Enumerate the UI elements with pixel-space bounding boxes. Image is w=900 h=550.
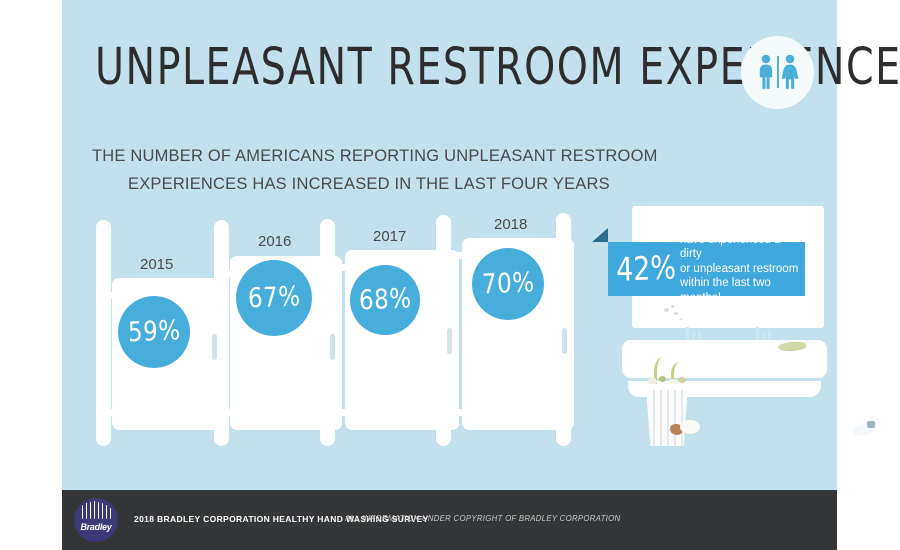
door-latch-icon — [447, 328, 452, 354]
infographic-root: UNPLEASANT RESTROOM EXPERIENCES THE NUMB… — [0, 0, 900, 550]
floor-debris — [680, 420, 700, 434]
stall-value-circle: 70% — [472, 248, 544, 320]
stall-year-label: 2018 — [494, 216, 527, 233]
waste-item — [659, 376, 666, 382]
trash-rib — [653, 390, 655, 446]
door-hinge-icon — [219, 409, 232, 416]
stall-value-label: 59% — [127, 316, 181, 349]
door-latch-icon — [330, 334, 335, 360]
splatter-mark — [680, 318, 682, 320]
infographic-canvas: UNPLEASANT RESTROOM EXPERIENCES THE NUMB… — [62, 0, 837, 490]
logo-spray-line — [86, 503, 87, 519]
stall-value-circle: 59% — [118, 296, 190, 368]
faucet-icon — [756, 327, 759, 340]
bradley-logo: Bradley — [74, 498, 118, 542]
door-hinge-icon — [451, 409, 464, 416]
logo-spray-line — [82, 505, 83, 519]
footer-bar: Bradley 2018 BRADLEY CORPORATION HEALTHY… — [62, 490, 837, 550]
stall-year-label: 2015 — [140, 256, 173, 273]
door-hinge-icon — [101, 409, 114, 416]
door-hinge-icon — [334, 409, 347, 416]
trash-rib — [674, 390, 676, 446]
logo-spray-line — [98, 502, 99, 519]
door-hinge-icon — [219, 270, 232, 277]
callout-banner: 42% have experienced a dirty or unpleasa… — [608, 242, 805, 296]
faucet-icon — [686, 327, 689, 340]
splatter-mark — [664, 308, 669, 312]
logo-spray-line — [90, 502, 91, 519]
faucet-icon — [692, 333, 695, 340]
logo-text: Bradley — [81, 522, 112, 532]
stall-year-label: 2017 — [373, 228, 406, 245]
callout-text: have experienced a dirty or unpleasant r… — [680, 233, 805, 306]
trash-rib — [681, 390, 683, 446]
stall-value-circle: 68% — [350, 265, 420, 335]
banner-fold-icon — [592, 228, 608, 242]
splatter-mark — [671, 305, 674, 308]
callout-percent: 42% — [607, 249, 680, 289]
splatter-mark — [674, 312, 678, 315]
callout-line-3: within the last two months! — [680, 276, 805, 305]
door-hinge-icon — [334, 264, 347, 271]
callout-line-1: have experienced a dirty — [680, 233, 805, 262]
logo-wordmark: Bradley — [74, 520, 118, 533]
faucet-icon — [768, 330, 771, 340]
waste-item — [678, 377, 686, 383]
callout-line-2: or unpleasant restroom — [680, 262, 805, 277]
stall-value-label: 67% — [247, 282, 301, 315]
stall-value-label: 68% — [358, 284, 412, 317]
logo-spray-line — [106, 505, 107, 519]
door-latch-icon — [212, 334, 217, 360]
stall-value-label: 70% — [481, 268, 535, 301]
stall-year-label: 2016 — [258, 233, 291, 250]
stall-value-circle: 67% — [236, 260, 312, 336]
faucet-icon — [762, 333, 765, 340]
trash-rib — [667, 390, 669, 446]
logo-spray-line — [102, 503, 103, 519]
faucet-icon — [698, 330, 701, 340]
door-latch-icon — [562, 328, 567, 354]
trash-can — [645, 390, 689, 446]
trash-rib — [660, 390, 662, 446]
footer-copyright-text: ALL INFORMATION UNDER COPYRIGHT OF BRADL… — [345, 514, 620, 523]
door-hinge-icon — [101, 292, 114, 299]
door-hinge-icon — [451, 252, 464, 259]
logo-spray-line — [110, 508, 111, 519]
logo-spray-line — [94, 501, 95, 519]
floor-debris — [867, 421, 875, 428]
